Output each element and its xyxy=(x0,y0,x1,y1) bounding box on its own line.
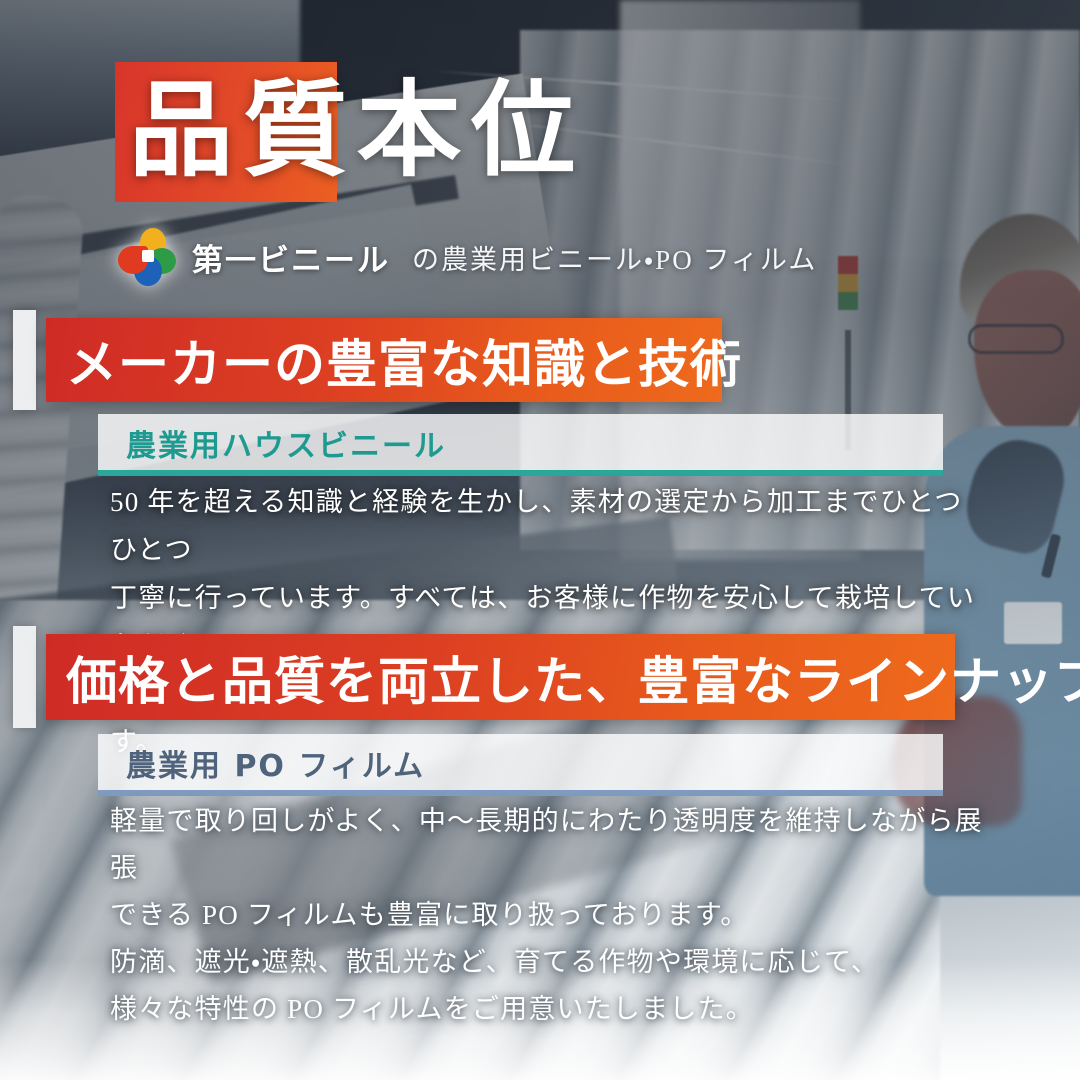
subheading-2-rule xyxy=(98,790,943,796)
section-banner-1: メーカーの豊富な知識と技術 xyxy=(46,318,722,402)
hero-title-block: 品質本位 xyxy=(115,62,585,202)
section-banner-2-label: 価格と品質を両立した、豊富なラインナップ xyxy=(46,640,1080,714)
body-line: 様々な特性の PO フィルムをご用意いたしました。 xyxy=(110,986,990,1033)
page-title: 品質本位 xyxy=(115,62,585,202)
company-name: 第一ビニール xyxy=(192,235,390,280)
promo-banner: 品質本位 第一ビニール の農業用ビニール・PO フィルム メーカーの豊富な知識と… xyxy=(0,0,1080,1080)
body-line: 防滴、遮光・遮熱、散乱光など、育てる作物や環境に応じて、 xyxy=(110,939,990,986)
brand-row: 第一ビニール の農業用ビニール・PO フィルム xyxy=(118,228,817,286)
content-layer: 品質本位 第一ビニール の農業用ビニール・PO フィルム メーカーの豊富な知識と… xyxy=(0,0,1080,1080)
subheading-2-label: 農業用 PO フィルム xyxy=(98,741,425,785)
section-banner-1-label: メーカーの豊富な知識と技術 xyxy=(46,323,742,397)
subheading-plate-1: 農業用ハウスビニール xyxy=(98,414,943,472)
body-line: 軽量で取り回しがよく、中〜長期的にわたり透明度を維持しながら展張 xyxy=(110,798,990,892)
subheading-1-label: 農業用ハウスビニール xyxy=(98,421,446,465)
subheading-1-rule xyxy=(98,470,943,476)
section-1-body: 50 年を超える知識と経験を生かし、素材の選定から加工までひとつひとつ 丁寧に行… xyxy=(110,478,990,766)
subheading-plate-2: 農業用 PO フィルム xyxy=(98,734,943,792)
body-line: 50 年を超える知識と経験を生かし、素材の選定から加工までひとつひとつ xyxy=(110,478,990,574)
section-accent-bar xyxy=(13,310,36,410)
brand-tagline: の農業用ビニール・PO フィルム xyxy=(412,238,817,277)
section-2-body: 軽量で取り回しがよく、中〜長期的にわたり透明度を維持しながら展張 できる PO … xyxy=(110,798,990,1033)
section-accent-bar xyxy=(13,626,36,728)
section-banner-2: 価格と品質を両立した、豊富なラインナップ xyxy=(46,634,955,720)
pinwheel-logo-icon xyxy=(118,228,176,286)
body-line: できる PO フィルムも豊富に取り扱っております。 xyxy=(110,892,990,939)
